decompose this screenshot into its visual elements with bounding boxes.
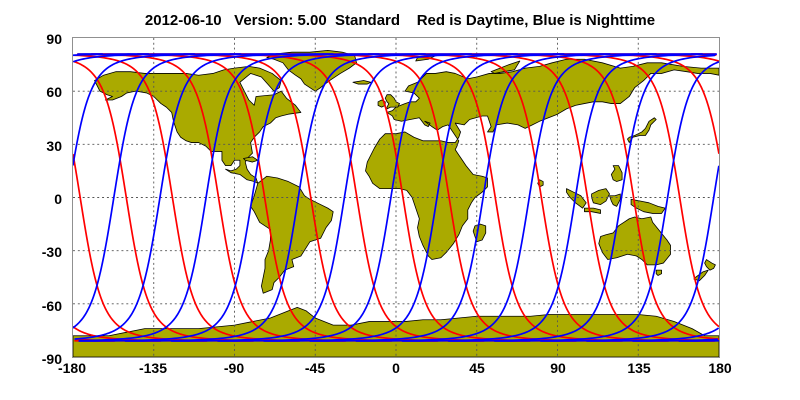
x-tick-label-180: 180 (700, 360, 740, 376)
landmass-philippines (611, 166, 622, 182)
landmass-madagascar (473, 224, 486, 242)
y-tick-label-90: 90 (18, 31, 62, 47)
y-tick-label-n30: -30 (18, 244, 62, 260)
nighttime-track-11-seg-0 (79, 54, 425, 341)
landmass-borneo (592, 189, 610, 205)
x-tick-label-n180: -180 (52, 360, 92, 376)
x-tick-label-n90: -90 (214, 360, 254, 376)
y-tick-label-60: 60 (18, 84, 62, 100)
satellite-ground-track-figure: 2012-06-10 Version: 5.00 Standard Red is… (0, 0, 800, 400)
y-tick-label-0: 0 (18, 191, 62, 207)
x-tick-label-90: 90 (538, 360, 578, 376)
x-tick-label-45: 45 (457, 360, 497, 376)
chart-title: 2012-06-10 Version: 5.00 Standard Red is… (0, 12, 800, 29)
landmass-uk (385, 95, 399, 109)
landmass-tasmania (656, 270, 661, 275)
landmass-iceland (353, 81, 371, 85)
landmass-java (584, 208, 600, 213)
x-tick-label-135: 135 (619, 360, 659, 376)
x-tick-label-n135: -135 (133, 360, 173, 376)
landmass-new-zealand-n (705, 260, 716, 271)
map-plot-area (72, 37, 720, 358)
landmass-north-america (95, 66, 301, 183)
world-map-svg (73, 38, 719, 357)
y-tick-label-n60: -60 (18, 298, 62, 314)
landmass-sulawesi (610, 194, 621, 206)
y-tick-label-30: 30 (18, 138, 62, 154)
x-tick-label-n45: -45 (295, 360, 335, 376)
landmass-africa-eurasia (365, 59, 719, 259)
x-tick-label-0: 0 (376, 360, 416, 376)
